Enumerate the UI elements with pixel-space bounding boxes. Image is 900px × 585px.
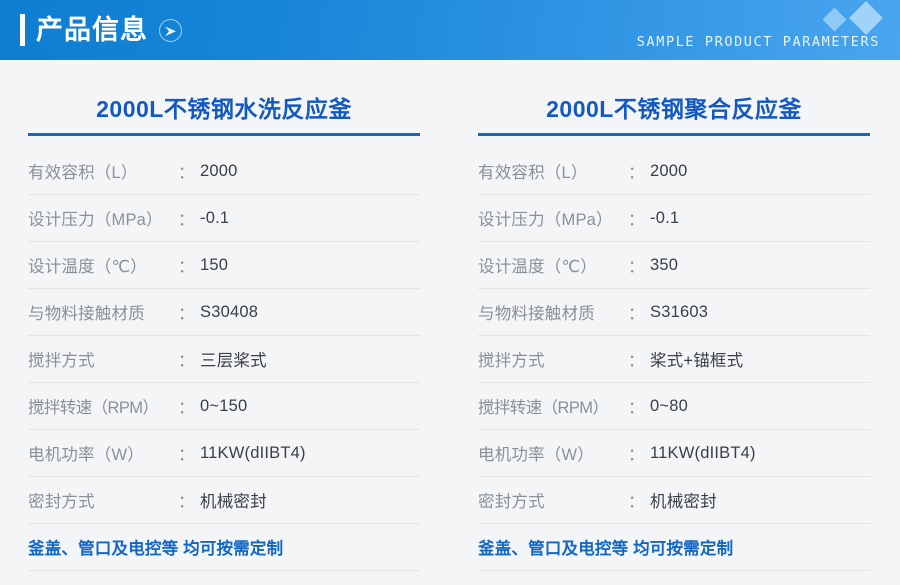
spec-value: 0~150 xyxy=(200,397,420,416)
spec-label: 设计温度（℃） xyxy=(478,253,628,277)
table-row: 有效容积（L） ： 2000 xyxy=(28,148,420,195)
table-row: 搅拌方式 ： 桨式+锚框式 xyxy=(478,336,870,383)
spec-value: 机械密封 xyxy=(650,488,870,512)
column-title-right: 2000L不锈钢聚合反应釜 xyxy=(478,90,870,133)
spec-value: S31603 xyxy=(650,303,870,322)
spec-colon: ： xyxy=(178,441,200,465)
table-row: 设计温度（℃） ： 150 xyxy=(28,242,420,289)
decorative-diamond-small xyxy=(822,7,846,31)
spec-colon: ： xyxy=(178,159,200,183)
spec-colon: ： xyxy=(178,347,200,371)
spec-value: 桨式+锚框式 xyxy=(650,347,870,371)
spec-value: -0.1 xyxy=(650,209,870,228)
spec-column-left: 2000L不锈钢水洗反应釜 有效容积（L） ： 2000 设计压力（MPa） ：… xyxy=(0,60,450,571)
spec-colon: ： xyxy=(628,441,650,465)
spec-column-right: 2000L不锈钢聚合反应釜 有效容积（L） ： 2000 设计压力（MPa） ：… xyxy=(450,60,900,571)
column-title-rule-left xyxy=(28,133,420,136)
customization-note-row: 釜盖、管口及电控等 均可按需定制 xyxy=(478,524,870,571)
spec-label: 密封方式 xyxy=(28,488,178,512)
spec-label: 与物料接触材质 xyxy=(28,300,178,324)
table-row: 设计压力（MPa） ： -0.1 xyxy=(28,195,420,242)
spec-colon: ： xyxy=(628,394,650,418)
header-subtitle: SAMPLE PRODUCT PARAMETERS xyxy=(637,34,880,50)
page-title: 产品信息 xyxy=(36,11,148,49)
spec-colon: ： xyxy=(178,488,200,512)
column-title-left: 2000L不锈钢水洗反应釜 xyxy=(28,90,420,133)
spec-colon: ： xyxy=(178,300,200,324)
customization-note: 釜盖、管口及电控等 均可按需定制 xyxy=(478,535,733,559)
table-row: 搅拌方式 ： 三层桨式 xyxy=(28,336,420,383)
spec-label: 有效容积（L） xyxy=(28,159,178,183)
table-row: 搅拌转速（RPM） ： 0~80 xyxy=(478,383,870,430)
spec-colon: ： xyxy=(628,206,650,230)
spec-value: -0.1 xyxy=(200,209,420,228)
spec-value: S30408 xyxy=(200,303,420,322)
spec-colon: ： xyxy=(628,488,650,512)
spec-label: 搅拌方式 xyxy=(478,347,628,371)
spec-colon: ： xyxy=(178,206,200,230)
spec-label: 电机功率（W） xyxy=(28,441,178,465)
spec-colon: ： xyxy=(178,253,200,277)
spec-label: 搅拌转速（RPM） xyxy=(478,394,628,418)
spec-value: 350 xyxy=(650,256,870,275)
spec-colon: ： xyxy=(628,347,650,371)
spec-label: 设计温度（℃） xyxy=(28,253,178,277)
spec-columns: 2000L不锈钢水洗反应釜 有效容积（L） ： 2000 设计压力（MPa） ：… xyxy=(0,60,900,571)
spec-value: 2000 xyxy=(650,162,870,181)
table-row: 设计温度（℃） ： 350 xyxy=(478,242,870,289)
table-row: 与物料接触材质 ： S30408 xyxy=(28,289,420,336)
spec-value: 11KW(dIIBT4) xyxy=(650,444,870,463)
spec-label: 搅拌方式 xyxy=(28,347,178,371)
play-arrow-icon[interactable] xyxy=(159,19,182,42)
spec-colon: ： xyxy=(178,394,200,418)
decorative-diamond-large xyxy=(849,1,883,35)
spec-label: 设计压力（MPa） xyxy=(478,206,628,230)
spec-colon: ： xyxy=(628,300,650,324)
table-row: 有效容积（L） ： 2000 xyxy=(478,148,870,195)
table-row: 密封方式 ： 机械密封 xyxy=(478,477,870,524)
table-row: 搅拌转速（RPM） ： 0~150 xyxy=(28,383,420,430)
spec-value: 2000 xyxy=(200,162,420,181)
spec-value: 0~80 xyxy=(650,397,870,416)
spec-label: 与物料接触材质 xyxy=(478,300,628,324)
product-info-page: 产品信息 SAMPLE PRODUCT PARAMETERS 2000L不锈钢水… xyxy=(0,0,900,585)
table-row: 电机功率（W） ： 11KW(dIIBT4) xyxy=(478,430,870,477)
spec-label: 电机功率（W） xyxy=(478,441,628,465)
table-row: 电机功率（W） ： 11KW(dIIBT4) xyxy=(28,430,420,477)
header-accent-bar xyxy=(20,14,25,46)
column-title-rule-right xyxy=(478,133,870,136)
spec-colon: ： xyxy=(628,159,650,183)
spec-label: 密封方式 xyxy=(478,488,628,512)
spec-label: 有效容积（L） xyxy=(478,159,628,183)
spec-value: 三层桨式 xyxy=(200,347,420,371)
customization-note-row: 釜盖、管口及电控等 均可按需定制 xyxy=(28,524,420,571)
table-row: 密封方式 ： 机械密封 xyxy=(28,477,420,524)
spec-colon: ： xyxy=(628,253,650,277)
table-row: 与物料接触材质 ： S31603 xyxy=(478,289,870,336)
spec-value: 机械密封 xyxy=(200,488,420,512)
spec-value: 150 xyxy=(200,256,420,275)
spec-label: 搅拌转速（RPM） xyxy=(28,394,178,418)
spec-label: 设计压力（MPa） xyxy=(28,206,178,230)
table-row: 设计压力（MPa） ： -0.1 xyxy=(478,195,870,242)
spec-value: 11KW(dIIBT4) xyxy=(200,444,420,463)
customization-note: 釜盖、管口及电控等 均可按需定制 xyxy=(28,535,283,559)
page-header: 产品信息 SAMPLE PRODUCT PARAMETERS xyxy=(0,0,900,60)
